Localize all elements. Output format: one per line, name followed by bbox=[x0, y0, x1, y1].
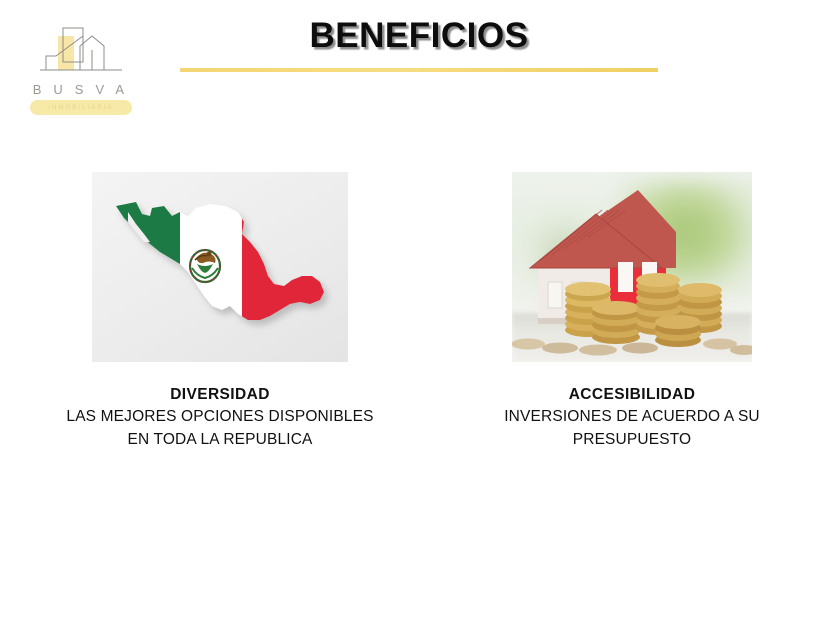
benefit-card-diversidad: DIVERSIDAD LAS MEJORES OPCIONES DISPONIB… bbox=[18, 172, 422, 451]
benefit-body-line-1: INVERSIONES DE ACUERDO A SU bbox=[452, 406, 812, 428]
benefit-card-accesibilidad: ACCESIBILIDAD INVERSIONES DE ACUERDO A S… bbox=[452, 172, 812, 451]
benefit-caption-accesibilidad: ACCESIBILIDAD INVERSIONES DE ACUERDO A S… bbox=[452, 384, 812, 451]
logo-tagline-pill: INMOBILIARIA bbox=[30, 100, 132, 115]
building-outline-icon bbox=[36, 26, 126, 84]
benefit-body-line-2: EN TODA LA REPUBLICA bbox=[18, 429, 422, 451]
logo-wordmark: B U S V A bbox=[28, 82, 133, 97]
logo-tagline: INMOBILIARIA bbox=[48, 105, 114, 111]
house-and-coins-photo bbox=[512, 172, 752, 362]
benefit-heading: DIVERSIDAD bbox=[18, 384, 422, 406]
benefit-caption-diversidad: DIVERSIDAD LAS MEJORES OPCIONES DISPONIB… bbox=[18, 384, 422, 451]
benefit-body-line-2: PRESUPUESTO bbox=[452, 429, 812, 451]
title-underline-rule bbox=[180, 68, 658, 72]
house-and-coins-graphic bbox=[512, 172, 752, 362]
mexico-map-graphic bbox=[92, 172, 348, 362]
benefit-body-line-1: LAS MEJORES OPCIONES DISPONIBLES bbox=[18, 406, 422, 428]
mexico-map-flag-photo bbox=[92, 172, 348, 362]
busva-logo: B U S V A INMOBILIARIA bbox=[28, 26, 133, 118]
benefit-heading: ACCESIBILIDAD bbox=[452, 384, 812, 406]
benefits-container: DIVERSIDAD LAS MEJORES OPCIONES DISPONIB… bbox=[0, 172, 840, 472]
page-title: BENEFICIOS bbox=[180, 18, 658, 53]
